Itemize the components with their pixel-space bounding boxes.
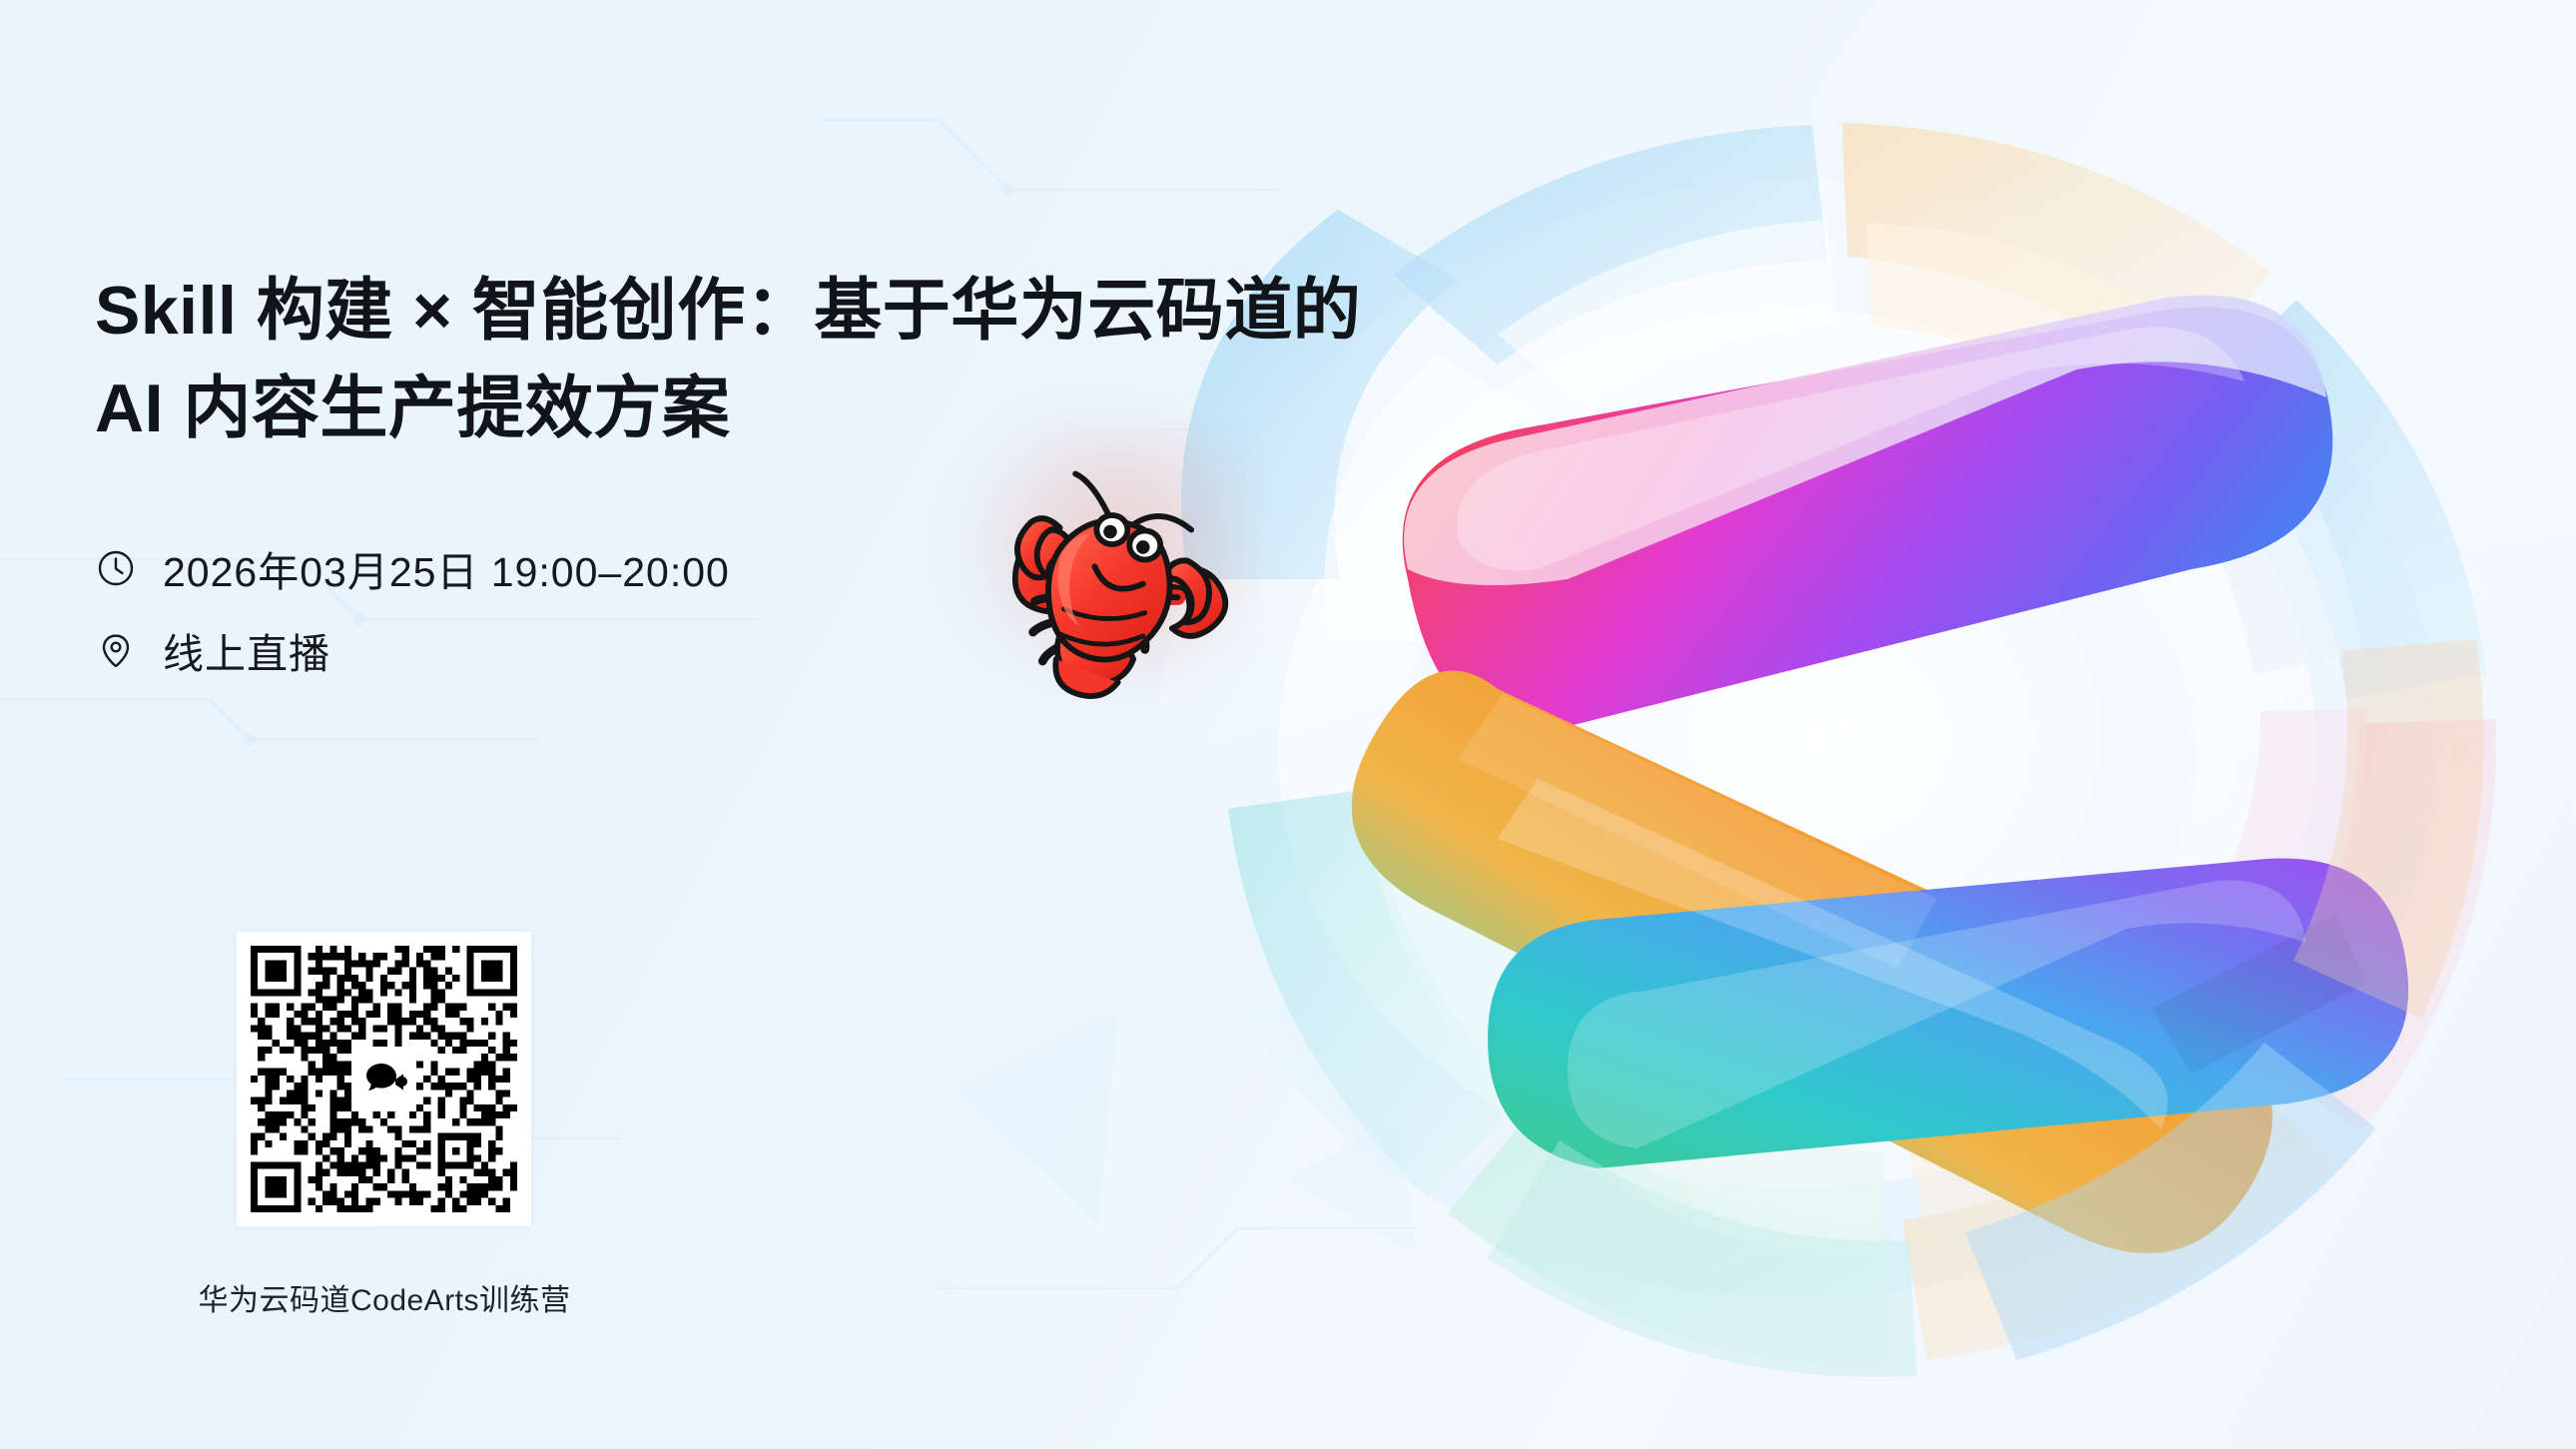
speech-bubble-megaphone-icon <box>353 1049 415 1110</box>
background-decoration <box>0 0 2576 1449</box>
event-datetime-text: 2026年03月25日 19:00–20:00 <box>163 538 730 598</box>
clock-icon <box>95 547 137 589</box>
location-pin-icon <box>95 629 137 671</box>
qr-caption: 华为云码道CodeArts训练营 <box>150 1275 619 1319</box>
qr-code[interactable] <box>237 932 531 1226</box>
title-line-1: Skill 构建 × 智能创作：基于华为云码道的 <box>95 262 1293 360</box>
codearts-3d-ribbon-artwork <box>939 0 2576 1449</box>
lobster-sticker <box>964 424 1253 724</box>
event-location-text: 线上直播 <box>163 620 330 680</box>
webinar-banner: Skill 构建 × 智能创作：基于华为云码道的 AI 内容生产提效方案 202… <box>0 0 2576 1449</box>
